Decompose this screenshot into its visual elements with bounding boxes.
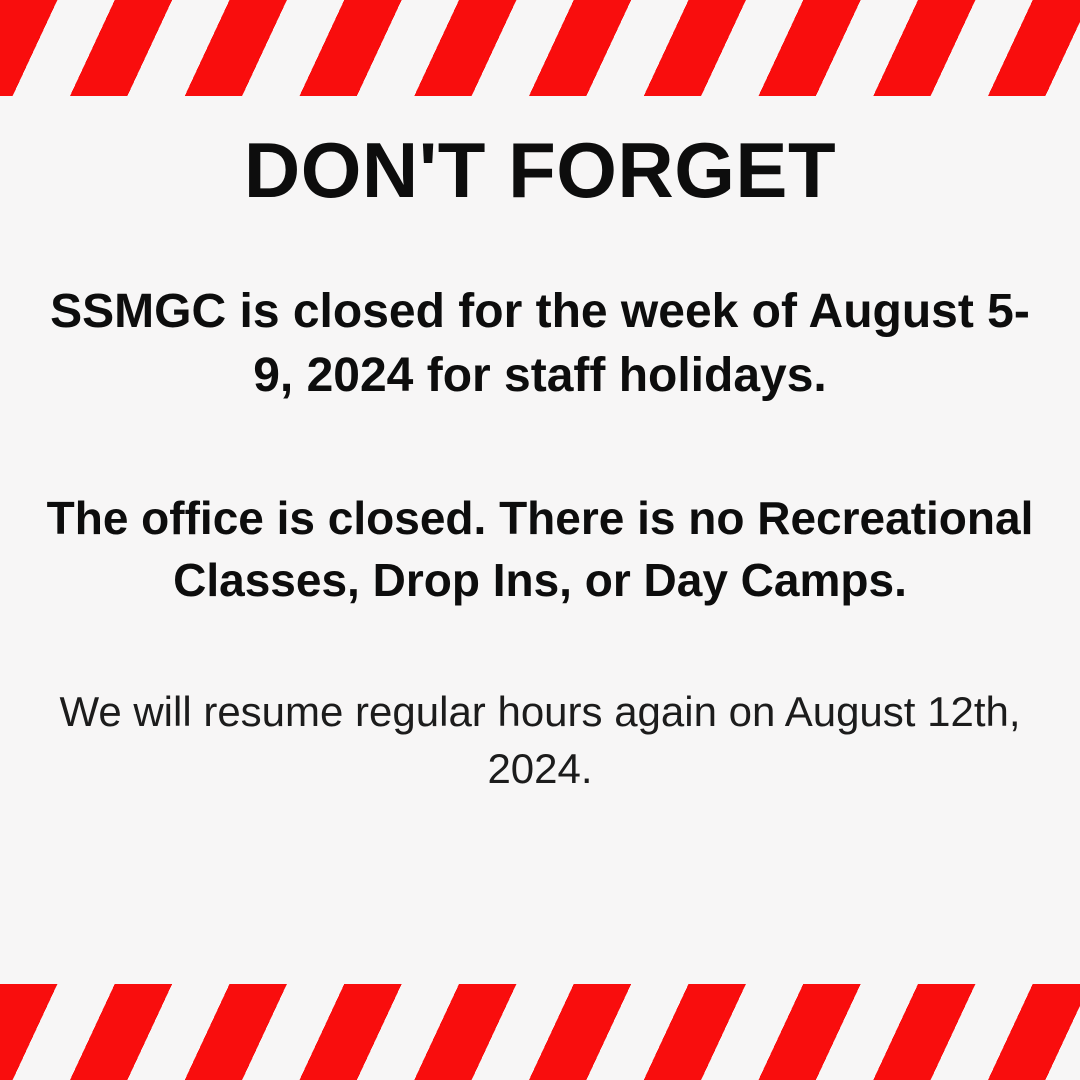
poster-content: DON'T FORGET SSMGC is closed for the wee… bbox=[0, 96, 1080, 984]
announcement-poster: DON'T FORGET SSMGC is closed for the wee… bbox=[0, 0, 1080, 1080]
page-title: DON'T FORGET bbox=[244, 130, 836, 212]
closure-notice-text: SSMGC is closed for the week of August 5… bbox=[40, 280, 1040, 409]
services-closed-text: The office is closed. There is no Recrea… bbox=[35, 487, 1045, 611]
resume-hours-text: We will resume regular hours again on Au… bbox=[34, 683, 1046, 797]
caution-stripe-band-bottom bbox=[0, 984, 1080, 1080]
caution-stripe-band-top bbox=[0, 0, 1080, 96]
